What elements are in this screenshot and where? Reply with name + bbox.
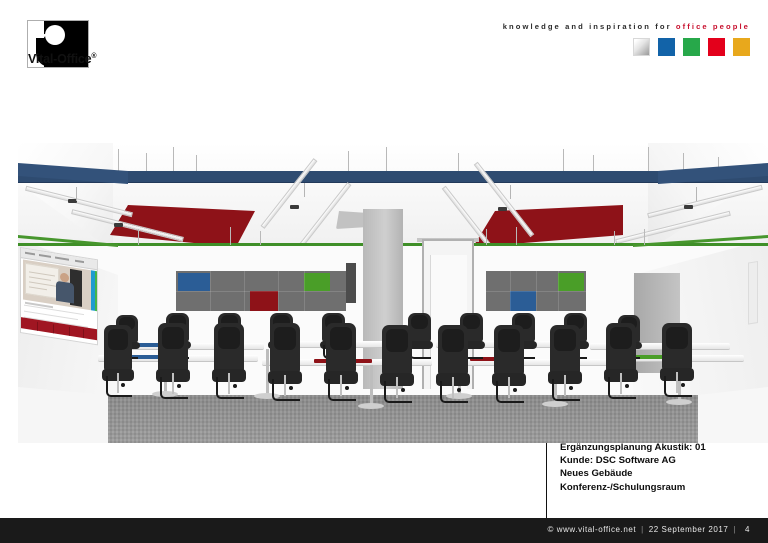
office-chair: [326, 323, 356, 401]
panel-seam: [176, 291, 346, 292]
ceiling-dropper: [486, 229, 487, 245]
footer-meta: © www.vital-office.net|22 September 2017…: [548, 525, 750, 534]
office-chair: [382, 325, 412, 403]
panel-tile-blue: [510, 291, 536, 311]
table-base: [542, 401, 568, 407]
footer-separator: |: [728, 525, 741, 534]
ceiling-dropper: [138, 229, 139, 245]
office-chair: [104, 325, 132, 397]
office-chair: [662, 323, 692, 397]
office-chair: [550, 325, 580, 401]
swatch-white-gradient: [633, 38, 650, 56]
brand-color-swatches: [633, 38, 750, 56]
tagline-plain: knowledge and inspiration for: [503, 22, 676, 31]
ceiling-dropper: [648, 147, 649, 173]
swatch-green: [683, 38, 700, 56]
page-header: Vital-Office® knowledge and inspiration …: [0, 0, 768, 90]
photo-person-body: [56, 281, 74, 304]
logo-wordmark-text: Vital-Office: [28, 52, 91, 66]
swatch-red: [708, 38, 725, 56]
panel-tile-green: [304, 273, 330, 291]
caption-line-room: Konferenz-/Schulungsraum: [560, 481, 760, 494]
table-base: [666, 399, 692, 405]
right-wall-board: [748, 261, 758, 325]
office-chair: [438, 325, 468, 403]
lamp-stem: [696, 187, 697, 201]
logo-wordmark: Vital-Office®: [28, 52, 110, 67]
panel-seam: [486, 291, 586, 292]
screen-accent-bar: [95, 271, 98, 312]
swatch-gold: [733, 38, 750, 56]
panel-tile-green: [558, 273, 584, 291]
brand-logo[interactable]: Vital-Office®: [27, 20, 89, 68]
ceiling-dropper: [644, 229, 645, 245]
ceiling-dropper: [260, 231, 261, 245]
ceiling-dropper: [614, 231, 615, 245]
lamp-stem: [510, 185, 511, 199]
brand-tagline: knowledge and inspiration for office peo…: [503, 22, 750, 31]
registered-mark: ®: [91, 53, 96, 60]
ceiling-dropper: [230, 227, 231, 245]
footer-page-number: 4: [741, 525, 750, 534]
photo-whiteboard: [25, 263, 59, 299]
swatch-blue: [658, 38, 675, 56]
room-render-image: [18, 143, 768, 443]
presentation-screen: [20, 247, 98, 345]
tagline-accent: office people: [676, 22, 750, 31]
office-chair: [270, 323, 300, 401]
acoustic-wall-panel-right: [486, 271, 586, 311]
floor-edge-right: [698, 387, 768, 443]
office-chair: [606, 323, 636, 399]
office-chair: [158, 323, 188, 399]
caption-line-client: Kunde: DSC Software AG: [560, 454, 760, 467]
ceiling-dropper: [516, 227, 517, 245]
ceiling-dropper: [118, 149, 119, 173]
project-caption: Ergänzungsplanung Akustik: 01 Kunde: DSC…: [560, 441, 760, 494]
footer-date: 22 September 2017: [649, 525, 729, 534]
ceiling-dropper: [173, 147, 174, 174]
footer-website[interactable]: www.vital-office.net: [557, 525, 636, 534]
lamp-clip: [684, 205, 693, 209]
ceiling-beam-blue: [18, 171, 768, 182]
copyright-symbol: ©: [548, 525, 554, 534]
caption-line-plan: Ergänzungsplanung Akustik: 01: [560, 441, 760, 454]
ceiling-dropper: [348, 151, 349, 173]
floor-edge-left: [18, 387, 108, 443]
acoustic-wall-panel-left: [176, 271, 346, 311]
wall-panel-dark-left: [346, 263, 356, 303]
table-leg: [370, 365, 373, 405]
lamp-clip: [498, 207, 507, 211]
lamp-clip: [114, 223, 123, 227]
lamp-stem: [76, 187, 77, 201]
lamp-clip: [290, 205, 299, 209]
panel-tile-red: [250, 291, 278, 311]
office-chair: [214, 323, 244, 399]
panel-tile-blue: [178, 273, 210, 291]
caption-divider: [546, 443, 547, 518]
caption-line-building: Neues Gebäude: [560, 467, 760, 480]
ceiling-dropper: [386, 147, 387, 173]
table-base: [358, 403, 384, 409]
footer-separator: |: [636, 525, 649, 534]
lamp-stem: [304, 183, 305, 197]
office-chair: [494, 325, 524, 403]
page-footer: © www.vital-office.net|22 September 2017…: [0, 518, 768, 543]
